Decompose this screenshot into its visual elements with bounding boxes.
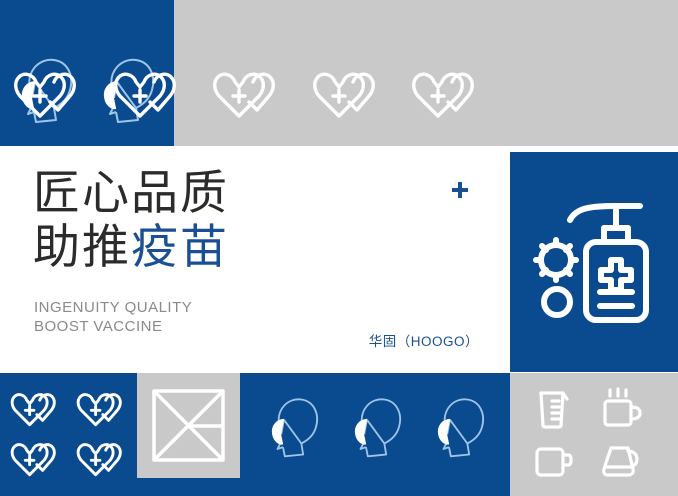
top-band	[0, 0, 678, 146]
steaming-mug-icon	[596, 387, 644, 431]
masked-head-icon	[427, 389, 493, 465]
double-heart-plus-icon	[74, 439, 136, 483]
plus-icon	[450, 180, 470, 200]
measuring-cup-icon	[530, 387, 574, 431]
subtitle-line-1: INGENUITY QUALITY	[34, 298, 192, 317]
page-title: 匠心品质 助推疫苗	[33, 166, 229, 274]
double-heart-plus-icon	[309, 68, 395, 126]
subtitle-line-2: BOOST VACCINE	[34, 317, 192, 336]
bottom-heart-icon-grid	[8, 389, 136, 483]
kettle-icon	[596, 439, 644, 483]
double-heart-plus-icon	[8, 389, 70, 433]
vessel-panel	[510, 373, 678, 496]
hand-sanitizer-bottle-icon	[524, 198, 664, 328]
bottom-band	[0, 373, 678, 496]
headline-line-2-dark: 助推	[33, 220, 131, 273]
headline-card: 匠心品质 助推疫苗 INGENUITY QUALITY BOOST VACCIN…	[0, 152, 503, 352]
sanitizer-panel	[510, 152, 678, 372]
headline-line-2-accent: 疫苗	[131, 220, 229, 273]
double-heart-plus-icon	[110, 68, 196, 126]
image-placeholder-tile	[137, 373, 240, 478]
mug-icon	[530, 439, 574, 483]
image-placeholder-icon	[137, 373, 240, 478]
headline-line-1: 匠心品质	[33, 166, 229, 220]
double-heart-plus-icon	[8, 439, 70, 483]
double-heart-plus-icon	[408, 68, 494, 126]
masked-head-icon	[344, 389, 410, 465]
subtitle-english: INGENUITY QUALITY BOOST VACCINE	[34, 298, 192, 336]
headline-line-2: 助推疫苗	[33, 220, 229, 274]
vessel-icon-grid	[530, 387, 644, 483]
bottom-mask-icon-row	[252, 389, 502, 465]
top-heart-icon-row	[10, 68, 494, 126]
virus-icon	[536, 240, 576, 280]
germ-ring-icon	[544, 289, 570, 315]
double-heart-plus-icon	[209, 68, 295, 126]
brand-name: 华固（HOOGO）	[369, 330, 479, 350]
masked-head-icon	[261, 389, 327, 465]
double-heart-plus-icon	[74, 389, 136, 433]
double-heart-plus-icon	[10, 68, 96, 126]
cross-icon	[601, 260, 631, 290]
poster-canvas: 匠心品质 助推疫苗 INGENUITY QUALITY BOOST VACCIN…	[0, 0, 678, 496]
